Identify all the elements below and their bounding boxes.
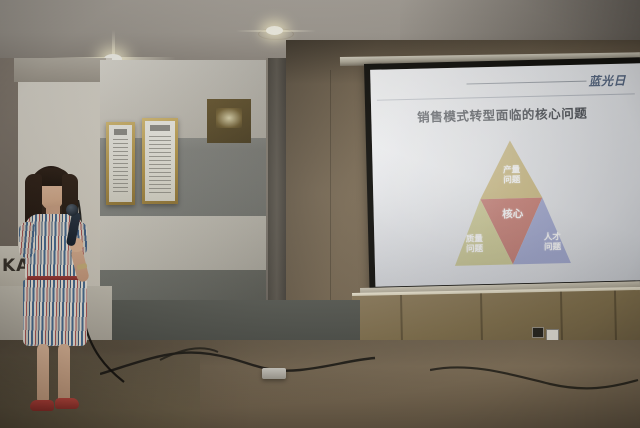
slide-divider-rule bbox=[377, 93, 635, 100]
left-wall-soffit bbox=[14, 58, 106, 82]
presenter-shoe-left bbox=[30, 400, 54, 411]
presenter-leg-right bbox=[58, 344, 70, 404]
pyramid-center-label: 核心 bbox=[488, 208, 538, 221]
certificate-heading-bar bbox=[150, 125, 170, 131]
ceiling-spotlight-right-icon bbox=[254, 20, 296, 42]
presenter-leg-left bbox=[37, 344, 49, 404]
slide-title: 销售模式转型面临的核心问题 bbox=[371, 101, 633, 126]
presenter bbox=[8, 160, 106, 422]
presenter-sleeve-left bbox=[19, 222, 35, 258]
certificate-mat bbox=[109, 125, 132, 202]
projection-screen-surface: 蓝光日 销售模式转型面临的核心问题 产量 问题 核心 质量 问题 人才 问题 bbox=[370, 63, 640, 287]
certificate-heading-bar bbox=[114, 129, 127, 135]
slide-brand-text: 蓝光日 bbox=[588, 72, 626, 90]
floor-cable-left bbox=[100, 340, 380, 390]
slide-header-rule bbox=[467, 81, 587, 85]
certificate-frame-left bbox=[106, 122, 135, 205]
presentation-room-photo: KAN 蓝光 bbox=[0, 0, 640, 428]
certificate-frame-right bbox=[142, 118, 178, 204]
pyramid-left-label: 质量 问题 bbox=[454, 235, 494, 256]
presenter-skirt bbox=[23, 280, 87, 346]
award-plaque-square bbox=[207, 99, 251, 143]
presenter-shoe-right bbox=[55, 398, 79, 409]
award-seal-icon bbox=[216, 108, 242, 128]
wall-outlet-right-dark[interactable] bbox=[532, 327, 544, 338]
projection-screen[interactable]: 蓝光日 销售模式转型面临的核心问题 产量 问题 核心 质量 问题 人才 问题 bbox=[364, 57, 640, 294]
pyramid-diagram: 产量 问题 核心 质量 问题 人才 问题 bbox=[448, 135, 575, 274]
certificate-text-lines bbox=[113, 139, 128, 195]
pyramid-right-label: 人才 问题 bbox=[532, 233, 572, 254]
pyramid-top-label: 产量 问题 bbox=[489, 166, 535, 187]
floor-cable-right bbox=[430, 358, 640, 398]
certificate-text-lines bbox=[149, 136, 171, 196]
certificate-mat bbox=[145, 121, 175, 201]
power-adapter-brick[interactable] bbox=[262, 368, 286, 379]
